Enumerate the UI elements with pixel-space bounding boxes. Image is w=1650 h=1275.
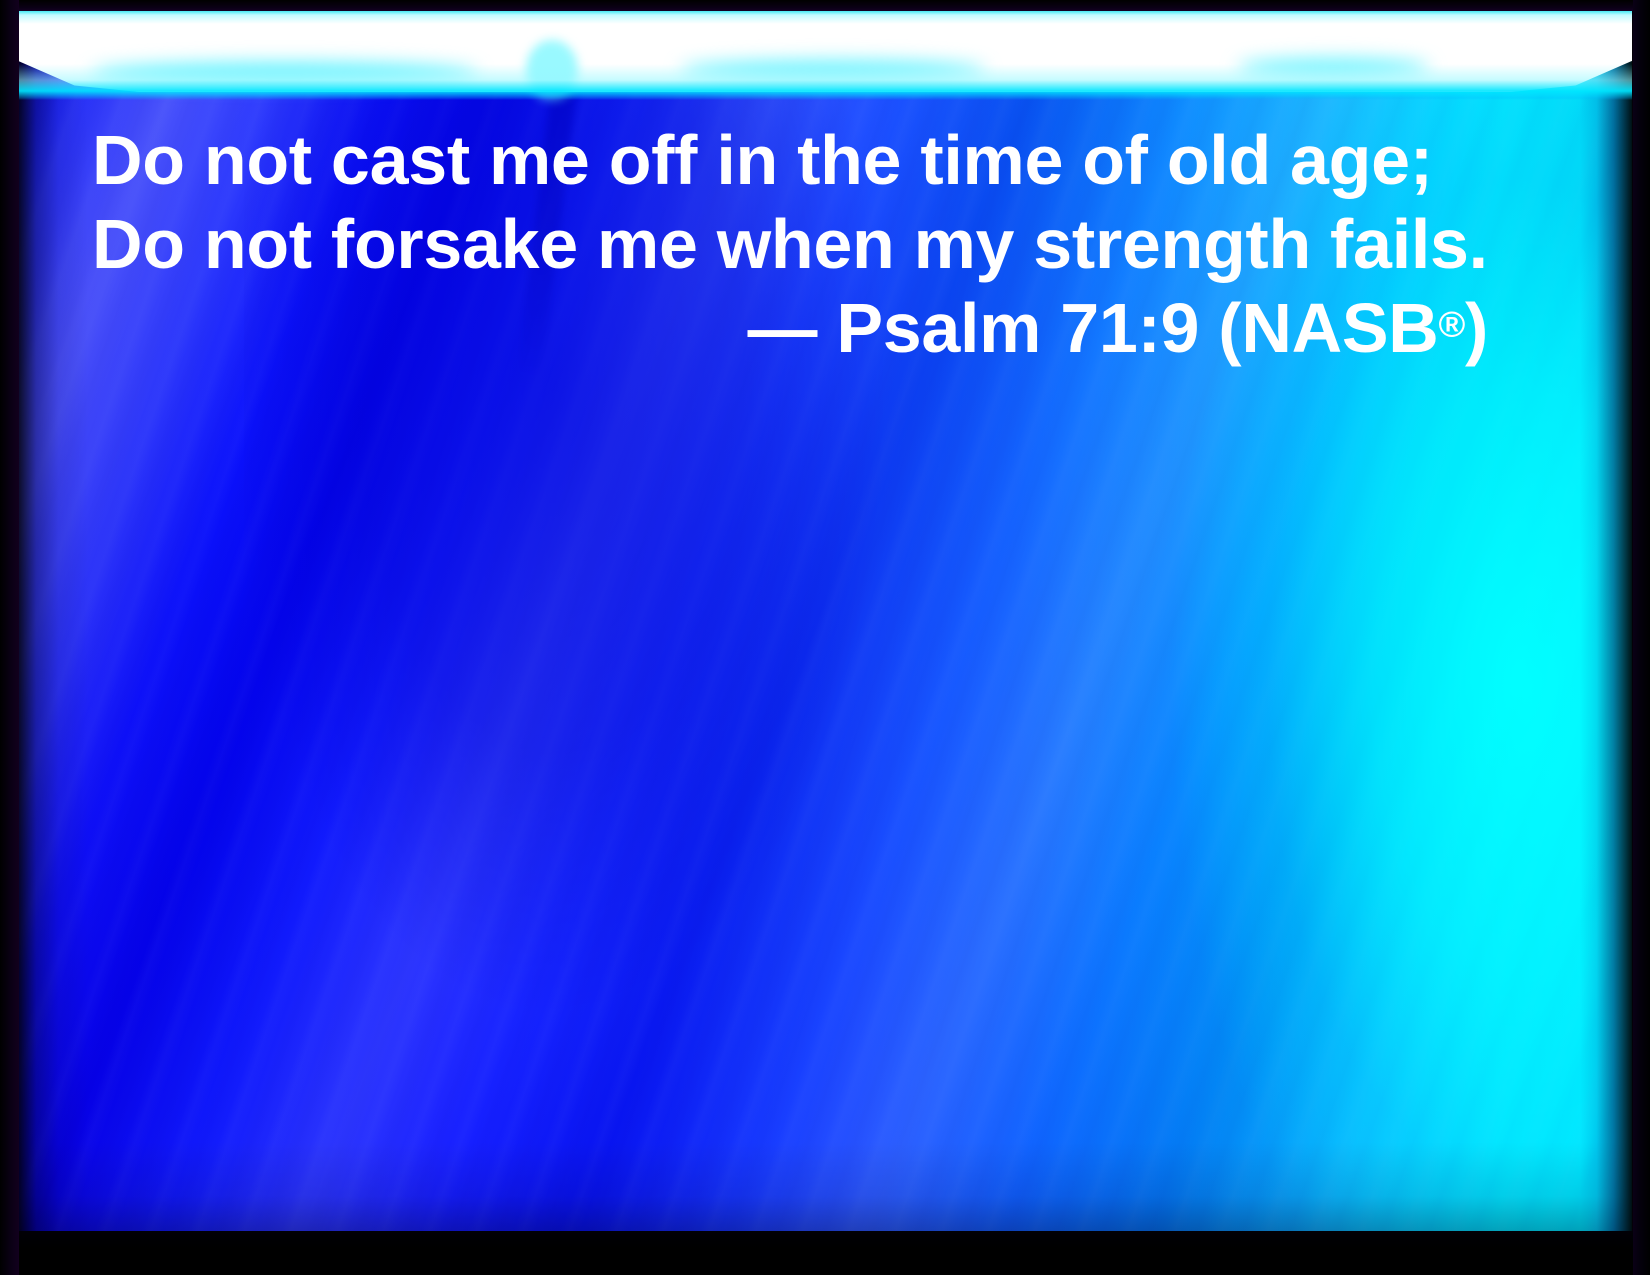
frame-border-top (0, 0, 1650, 11)
frame-border-bottom (0, 1231, 1650, 1275)
frame-border-right (1633, 0, 1650, 1275)
verse-reference-prefix: — Psalm 71:9 (NASB (748, 289, 1439, 367)
bottom-falloff (18, 1142, 1632, 1232)
verse-line-1: Do not cast me off in the time of old ag… (92, 118, 1492, 202)
verse-text-block: Do not cast me off in the time of old ag… (92, 118, 1492, 370)
left-vignette (18, 10, 88, 1232)
light-bar-body (18, 10, 1632, 92)
verse-line-2: Do not forsake me when my strength fails… (92, 202, 1492, 286)
verse-reference: — Psalm 71:9 (NASB®) (92, 286, 1492, 370)
verse-image-canvas: Do not cast me off in the time of old ag… (0, 0, 1650, 1275)
top-light-bar (18, 10, 1632, 110)
registered-trademark-icon: ® (1438, 304, 1465, 345)
right-vignette (1580, 10, 1632, 1232)
verse-reference-suffix: ) (1465, 289, 1488, 367)
frame-border-left (0, 0, 19, 1275)
